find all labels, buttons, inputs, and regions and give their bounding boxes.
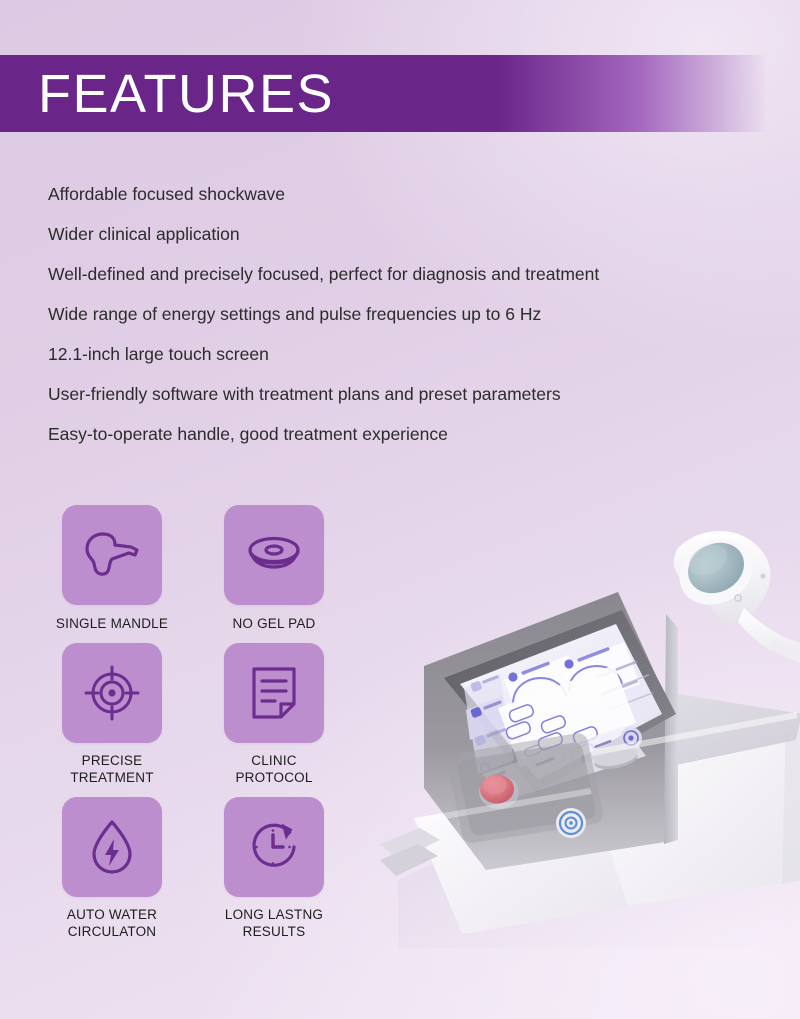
water-drop-bolt-icon bbox=[62, 797, 162, 897]
tile-label: PRECISETREATMENT bbox=[37, 753, 187, 787]
tile-label: NO GEL PAD bbox=[199, 616, 349, 633]
tile-label-line2: TREATMENT bbox=[70, 770, 153, 785]
feature-item: Easy-to-operate handle, good treatment e… bbox=[48, 415, 748, 455]
icon-row: AUTO WATERCIRCULATON LONG LASTNGRESULTS bbox=[62, 797, 362, 941]
icon-cell-clinic-protocol[interactable]: CLINICPROTOCOL bbox=[224, 643, 324, 787]
screen-sidebar-item-home bbox=[470, 675, 499, 692]
power-button bbox=[556, 808, 586, 838]
tile-label-line1: AUTO WATER bbox=[67, 907, 157, 922]
icon-cell-no-gel-pad[interactable]: NO GEL PAD bbox=[224, 505, 324, 633]
icon-cell-precise-treatment[interactable]: PRECISETREATMENT bbox=[62, 643, 162, 787]
tile-label-line2: PROTOCOL bbox=[235, 770, 312, 785]
feature-list: Affordable focused shockwave Wider clini… bbox=[48, 175, 748, 455]
screen-sidebar-item-therapy bbox=[466, 696, 506, 740]
tile-label: SINGLE MANDLE bbox=[37, 616, 187, 633]
tile-label-line1: LONG LASTNG bbox=[225, 907, 323, 922]
document-icon bbox=[224, 643, 324, 743]
front-control-panel bbox=[448, 733, 603, 842]
icon-cell-auto-water-circulation[interactable]: AUTO WATERCIRCULATON bbox=[62, 797, 162, 941]
gel-pad-disc-icon bbox=[224, 505, 324, 605]
page-title: FEATURES bbox=[38, 67, 334, 121]
feature-item: User-friendly software with treatment pl… bbox=[48, 375, 748, 415]
features-banner: FEATURES bbox=[0, 55, 800, 132]
screen-footer bbox=[482, 726, 646, 800]
icon-cell-long-lasting-results[interactable]: LONG LASTNGRESULTS bbox=[224, 797, 324, 941]
tile-label: LONG LASTNGRESULTS bbox=[199, 907, 349, 941]
icon-cell-single-mandle[interactable]: SINGLE MANDLE bbox=[62, 505, 162, 633]
screen-readouts bbox=[596, 660, 653, 711]
screen-sidebar-item-guideline bbox=[474, 727, 507, 746]
emergency-stop-button bbox=[480, 775, 514, 804]
screen-panel-frequency bbox=[560, 642, 640, 708]
screen-panel-intensity bbox=[504, 655, 584, 722]
clock-arrow-icon bbox=[224, 797, 324, 897]
tile-label-line2: RESULTS bbox=[243, 924, 306, 939]
feature-item: Well-defined and precisely focused, perf… bbox=[48, 255, 748, 295]
machine-illustration bbox=[378, 488, 800, 948]
tile-label-line1: PRECISE bbox=[82, 753, 143, 768]
handle-icon bbox=[62, 505, 162, 605]
feature-item: Wider clinical application bbox=[48, 215, 748, 255]
tile-label-line1: CLINIC bbox=[251, 753, 296, 768]
feature-item: Wide range of energy settings and pulse … bbox=[48, 295, 748, 335]
screen-settings-icon bbox=[481, 764, 490, 773]
feature-item: Affordable focused shockwave bbox=[48, 175, 748, 215]
tile-label: AUTO WATERCIRCULATON bbox=[37, 907, 187, 941]
tile-label: CLINICPROTOCOL bbox=[199, 753, 349, 787]
target-crosshair-icon bbox=[62, 643, 162, 743]
icon-row: SINGLE MANDLE NO GEL PAD bbox=[62, 505, 362, 633]
handpiece bbox=[668, 527, 800, 666]
screen-preset-keypad bbox=[498, 665, 636, 768]
tile-label-line2: CIRCULATON bbox=[68, 924, 157, 939]
feature-item: 12.1-inch large touch screen bbox=[48, 335, 748, 375]
feature-icon-grid: SINGLE MANDLE NO GEL PAD bbox=[62, 505, 362, 950]
icon-row: PRECISETREATMENT CLINICPROTOCOL bbox=[62, 643, 362, 787]
features-page: FEATURES Affordable focused shockwave Wi… bbox=[0, 0, 800, 1019]
